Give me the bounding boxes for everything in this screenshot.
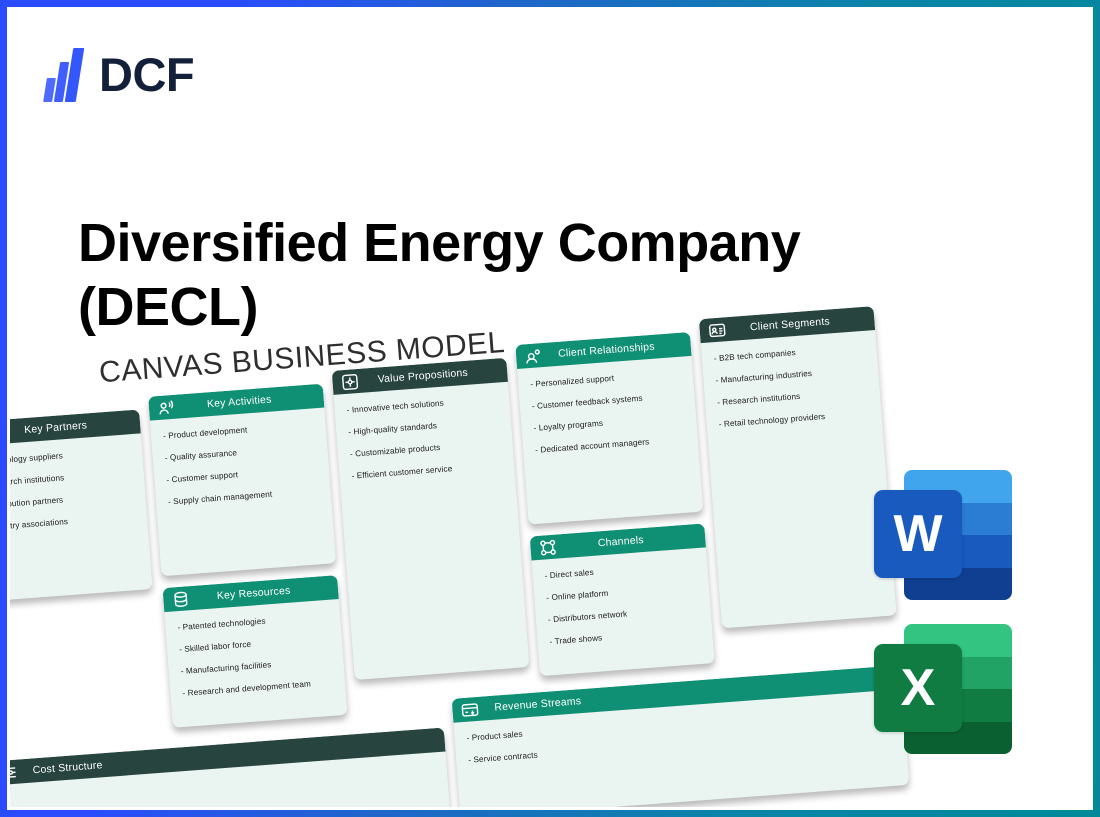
list-item: Trade shows (549, 626, 702, 646)
list-item: Loyalty programs (533, 412, 686, 432)
panel-body: B2B tech companies Manufacturing industr… (701, 330, 884, 451)
dcf-logo[interactable]: DCF (43, 46, 194, 102)
list-item: Distributors network (548, 604, 701, 624)
excel-tile-letter: X (874, 644, 962, 732)
panel-key-activities[interactable]: Key Activities Product development Quali… (148, 384, 336, 577)
panel-body: Product development Quality assurance Cu… (150, 408, 333, 529)
panel-client-segments[interactable]: Client Segments B2B tech companies Manuf… (699, 306, 897, 628)
panel-client-relationships[interactable]: Client Relationships Personalized suppor… (515, 332, 703, 525)
list-item: Patented technologies (177, 612, 330, 632)
list-item: Supply chain management (168, 486, 321, 506)
panel-revenue-streams[interactable]: Revenue Streams Product sales Service co… (452, 665, 910, 810)
list-item: Efficient customer service (351, 460, 504, 480)
page-frame: DCF Diversified Energy Company (DECL) CA… (0, 0, 1100, 817)
person-activity-icon (155, 397, 178, 420)
list-item: Quality assurance (164, 442, 317, 462)
list-item: Personalized support (530, 369, 683, 389)
panel-body: Personalized support Customer feedback s… (517, 356, 700, 477)
list-item: Customizable products (350, 438, 503, 458)
list-item: Retail technology providers (718, 409, 871, 429)
list-item: Technology suppliers (7, 446, 132, 466)
panel-title: Key Activities (182, 390, 324, 413)
word-tile-letter: W (874, 490, 962, 578)
list-item: Dedicated account managers (535, 434, 688, 454)
list-item: Research institutions (7, 468, 134, 488)
list-item: B2B tech companies (714, 343, 867, 363)
panel-body: Innovative tech solutions High-quality s… (333, 382, 516, 503)
office-file-formats: W X (869, 465, 1024, 759)
sliders-icon (7, 762, 20, 785)
panel-title: Client Segments (733, 312, 875, 335)
credit-card-icon (459, 699, 482, 722)
panel-title: Channels (564, 529, 706, 552)
microsoft-excel-icon[interactable]: X (869, 619, 1024, 759)
list-item: Skilled labor force (179, 634, 332, 654)
list-item: High-quality standards (348, 416, 501, 436)
panel-cost-structure[interactable]: Cost Structure (7, 728, 453, 810)
database-icon (170, 588, 193, 611)
panel-title: Value Propositions (366, 364, 508, 387)
list-item: Research and development team (182, 678, 335, 698)
network-nodes-icon (537, 536, 560, 559)
list-item: Distribution partners (7, 490, 136, 510)
list-item: Innovative tech solutions (346, 394, 499, 414)
business-model-canvas: CANVAS BUSINESS MODEL Key Partners Techn… (7, 293, 923, 810)
list-item: Customer feedback systems (532, 391, 685, 411)
panel-body: Patented technologies Skilled labor forc… (164, 599, 347, 720)
panel-title: Key Partners (7, 415, 140, 438)
dcf-logo-mark-icon (43, 46, 89, 102)
people-icon (522, 345, 545, 368)
panel-title: Client Relationships (550, 338, 692, 361)
panel-key-resources[interactable]: Key Resources Patented technologies Skil… (163, 575, 348, 728)
microsoft-word-icon[interactable]: W (869, 465, 1024, 605)
panel-channels[interactable]: Channels Direct sales Online platform Di… (530, 523, 715, 676)
id-card-icon (706, 319, 729, 342)
list-item: Research institutions (717, 387, 870, 407)
dcf-logo-text: DCF (99, 51, 194, 98)
panel-key-partners[interactable]: Key Partners Technology suppliers Resear… (7, 409, 153, 602)
panel-body: Direct sales Online platform Distributor… (531, 547, 714, 668)
list-item: Online platform (546, 582, 699, 602)
list-item: Manufacturing industries (715, 365, 868, 385)
panel-body: Technology suppliers Research institutio… (7, 433, 149, 554)
list-item: Manufacturing facilities (180, 656, 333, 676)
panel-value-propositions[interactable]: Value Propositions Innovative tech solut… (332, 358, 530, 680)
list-item: Product development (163, 420, 316, 440)
list-item: Industry associations (7, 512, 137, 532)
gift-box-icon (339, 371, 362, 394)
panel-title: Key Resources (197, 581, 339, 604)
list-item: Customer support (166, 464, 319, 484)
list-item: Direct sales (544, 560, 697, 580)
page-inner: DCF Diversified Energy Company (DECL) CA… (7, 7, 1093, 810)
